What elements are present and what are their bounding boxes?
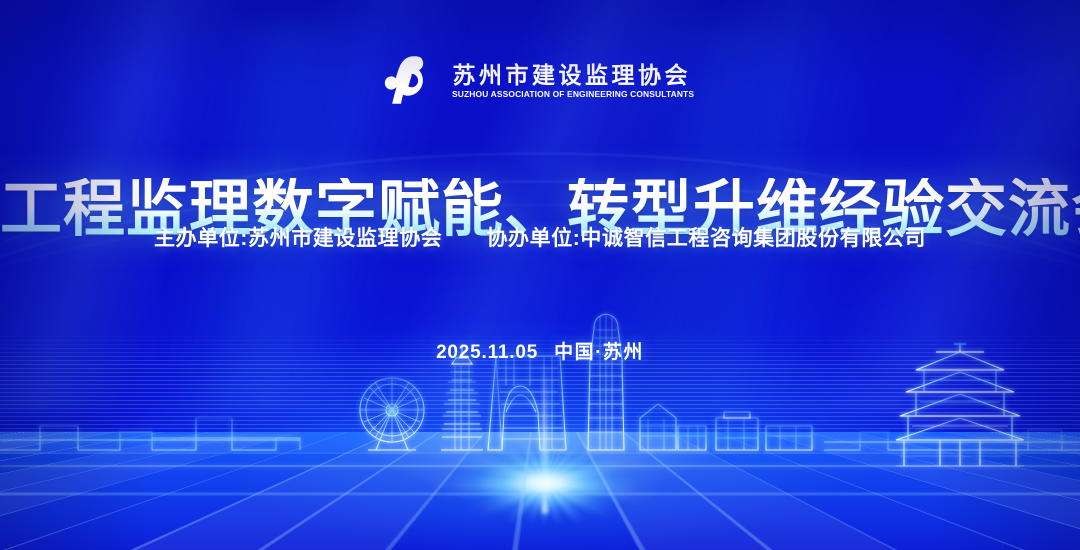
event-location: 中国·苏州 — [554, 337, 644, 364]
association-logo: 苏州市建设监理协会 SUZHOU ASSOCIATION OF ENGINEER… — [0, 52, 1080, 110]
stylized-a-monogram-icon — [380, 52, 438, 110]
event-date: 2025.11.05 — [436, 342, 538, 364]
host-organization: 主办单位:苏州市建设监理协会 — [154, 222, 442, 252]
event-banner: 苏州市建设监理协会 SUZHOU ASSOCIATION OF ENGINEER… — [0, 0, 1080, 550]
organizer-row: 主办单位:苏州市建设监理协会 协办单位:中诚智信工程咨询集团股份有限公司 — [0, 222, 1080, 252]
logo-name-en: SUZHOU ASSOCIATION OF ENGINEERING CONSUL… — [452, 90, 694, 99]
event-date-location: 2025.11.05 中国·苏州 — [0, 337, 1080, 364]
co-organizer: 协办单位:中诚智信工程咨询集团股份有限公司 — [486, 222, 926, 252]
logo-text-block: 苏州市建设监理协会 SUZHOU ASSOCIATION OF ENGINEER… — [452, 64, 699, 99]
banner-content: 苏州市建设监理协会 SUZHOU ASSOCIATION OF ENGINEER… — [0, 0, 1080, 550]
logo-name-cn: 苏州市建设监理协会 — [452, 64, 699, 87]
